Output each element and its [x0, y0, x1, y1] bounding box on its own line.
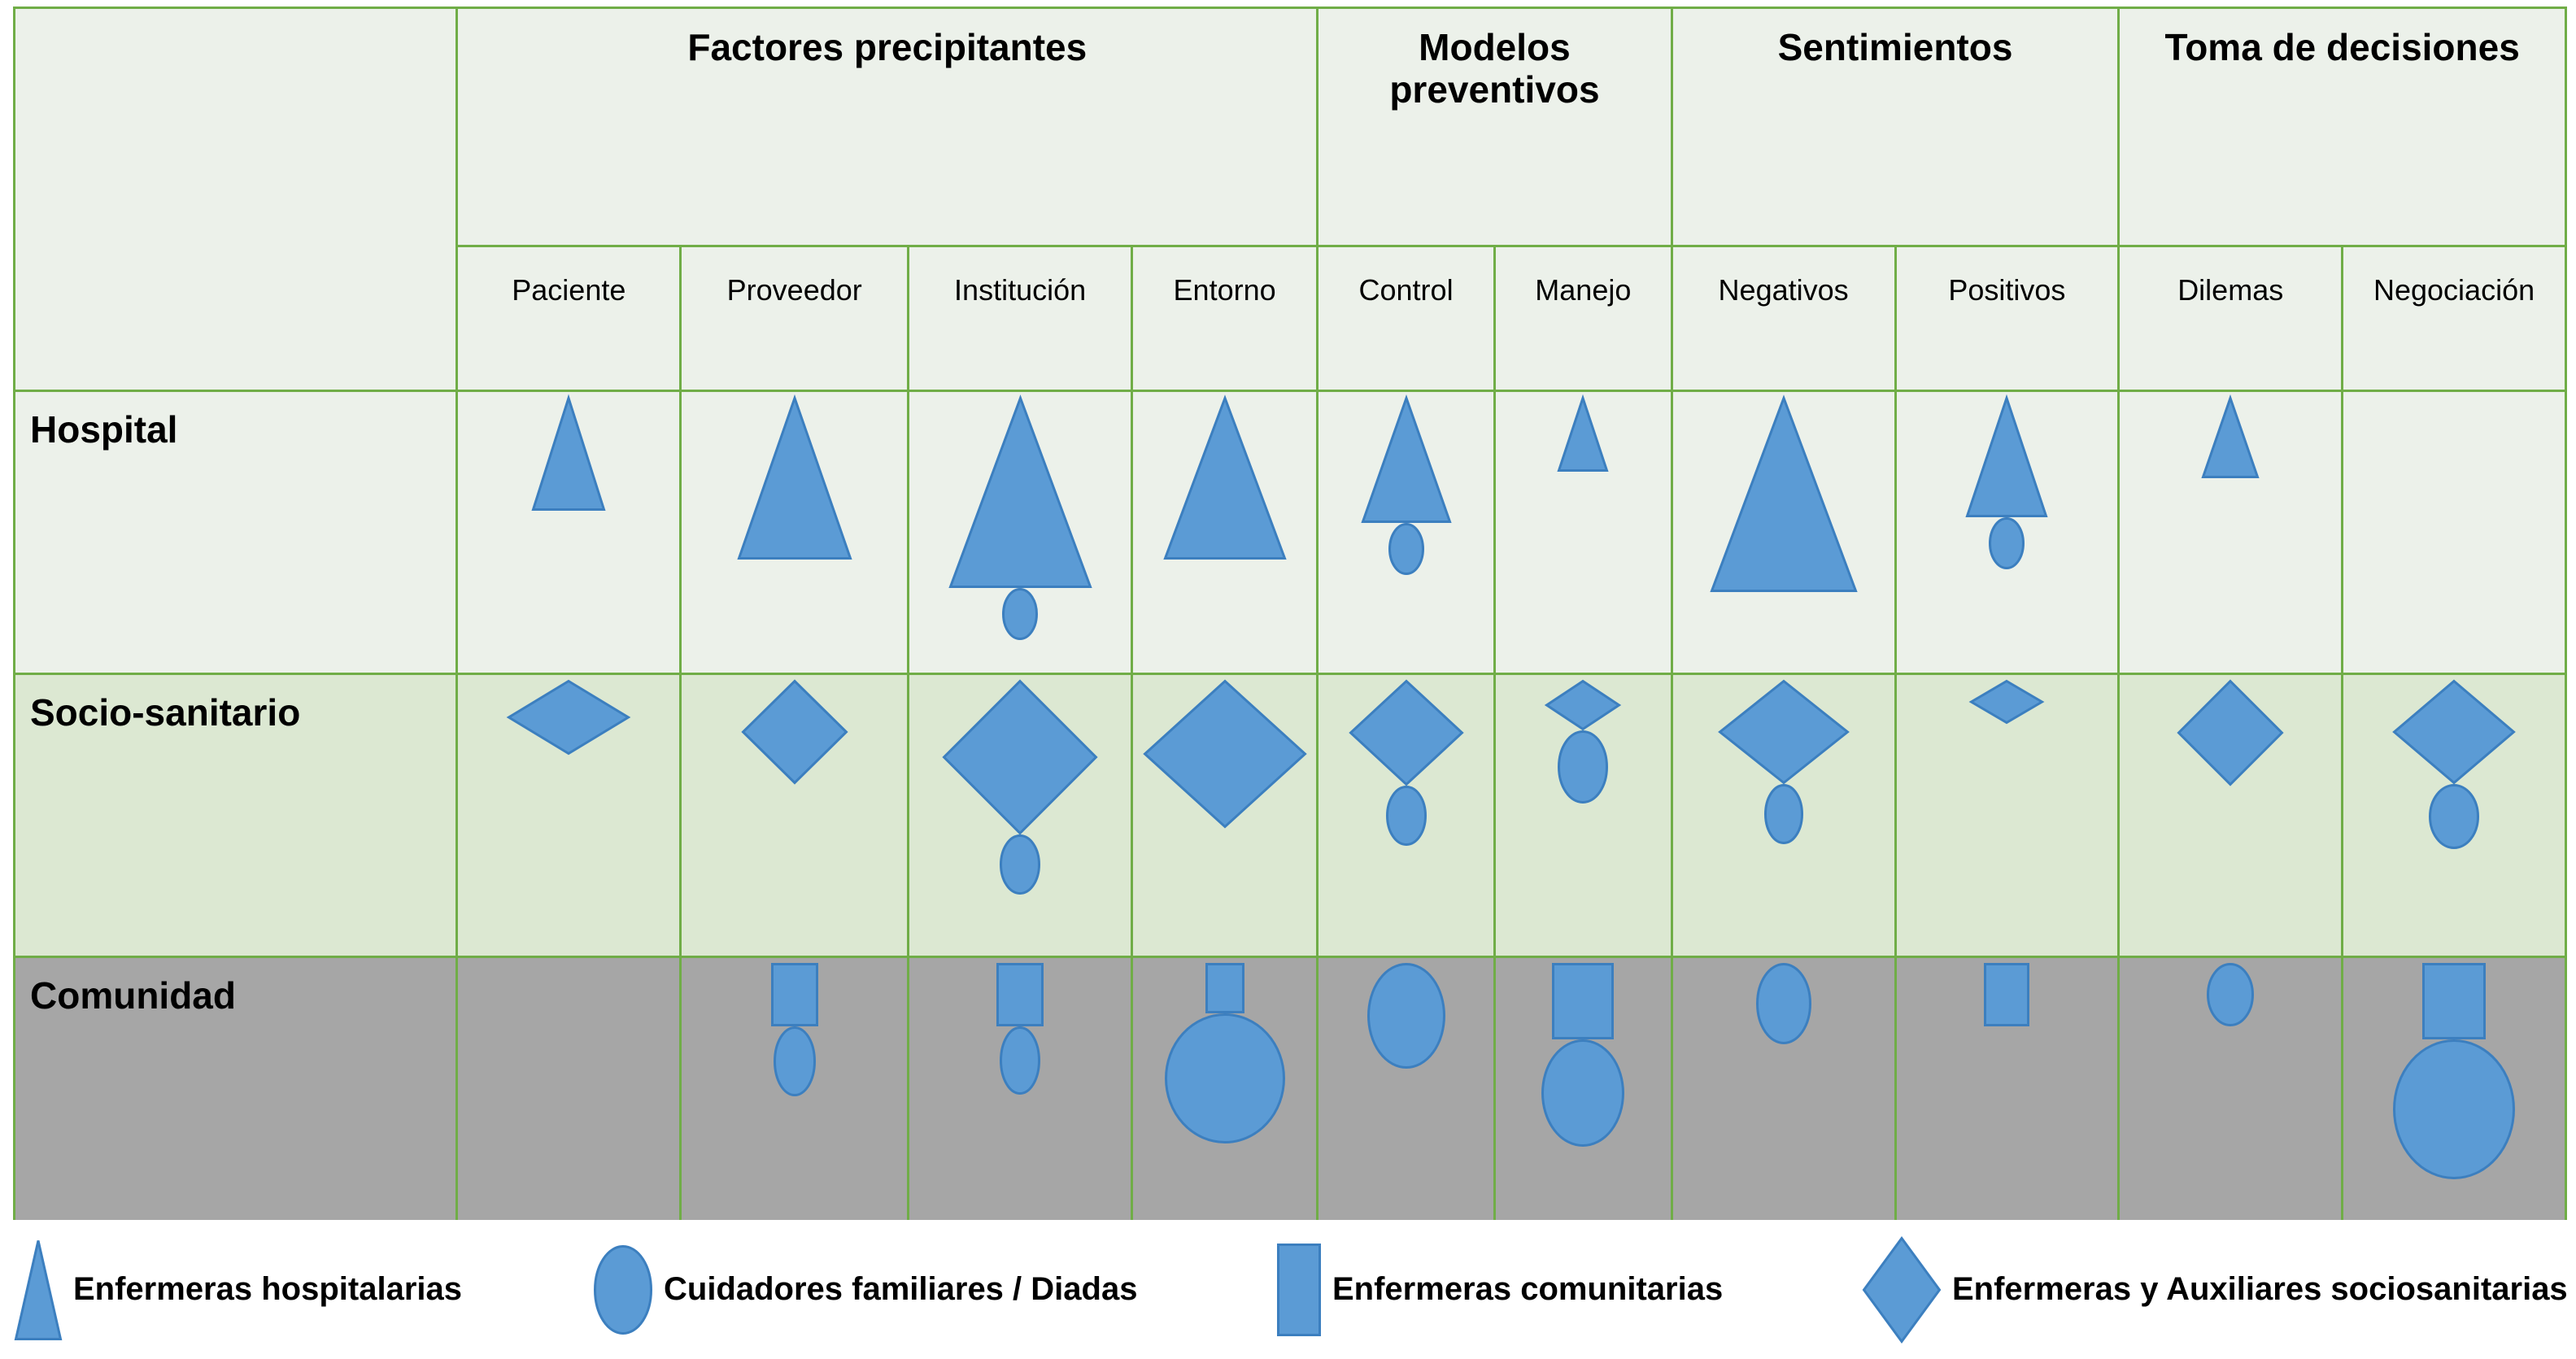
- diamond-glyph: [2393, 680, 2515, 784]
- matrix-cell-r1-c3: [1132, 674, 1318, 957]
- circle-glyph: [1541, 1039, 1624, 1147]
- matrix-cell-r1-c0: [457, 674, 681, 957]
- row-header-label: Socio-sanitario: [15, 675, 455, 734]
- row-header-label: Hospital: [15, 392, 455, 451]
- column-header-2: Institución: [909, 246, 1132, 391]
- matrix-cell-r0-c4: [1318, 391, 1495, 674]
- matrix-cell-r0-c2: [909, 391, 1132, 674]
- column-header-label: Institución: [909, 247, 1131, 307]
- group-header-label: Sentimientos: [1673, 9, 2118, 69]
- column-header-5: Manejo: [1494, 246, 1672, 391]
- matrix-cell-r2-c2: [909, 957, 1132, 1240]
- triangle-glyph: [15, 1239, 62, 1340]
- triangle-glyph: [1711, 397, 1857, 592]
- figure-root: Factores precipitantesModelos preventivo…: [0, 0, 2576, 1359]
- matrix-table: Factores precipitantesModelos preventivo…: [13, 7, 2567, 1241]
- matrix-cell-r0-c0: [457, 391, 681, 674]
- cell-shape-stack: [2343, 675, 2565, 956]
- table-corner-cell: [15, 8, 457, 391]
- row-header-2: Comunidad: [15, 957, 457, 1240]
- cell-shape-stack: [1133, 958, 1316, 1239]
- column-header-label: Manejo: [1496, 247, 1671, 307]
- cell-shape-stack: [1673, 675, 1894, 956]
- cell-shape-stack: [458, 958, 679, 1239]
- column-header-4: Control: [1318, 246, 1495, 391]
- cell-shape-stack: [2120, 392, 2341, 673]
- cell-shape-stack: [682, 675, 907, 956]
- cell-shape-stack: [2120, 675, 2341, 956]
- cell-shape-stack: [1897, 392, 2118, 673]
- group-header-1: Modelos preventivos: [1318, 8, 1672, 246]
- triangle-glyph: [738, 397, 852, 560]
- cell-shape-stack: [458, 392, 679, 673]
- diamond-glyph: [1863, 1237, 1941, 1343]
- circle-glyph: [1388, 523, 1424, 575]
- matrix-cell-r1-c9: [2343, 674, 2566, 957]
- row-header-0: Hospital: [15, 391, 457, 674]
- matrix-cell-r2-c6: [1672, 957, 1895, 1240]
- table-row: Hospital: [15, 391, 2566, 674]
- matrix-cell-r2-c4: [1318, 957, 1495, 1240]
- legend-item-1: Cuidadores familiares / Diadas: [594, 1220, 1137, 1359]
- matrix-cell-r0-c6: [1672, 391, 1895, 674]
- column-header-label: Proveedor: [682, 247, 907, 307]
- diamond-glyph: [1970, 680, 2043, 724]
- square-icon: [1277, 1244, 1321, 1336]
- matrix-cell-r0-c1: [681, 391, 909, 674]
- matrix-cell-r2-c8: [2119, 957, 2343, 1240]
- cell-shape-stack: [909, 958, 1131, 1239]
- circle-glyph: [1000, 1026, 1040, 1095]
- diamond-icon: [1863, 1237, 1941, 1343]
- matrix-cell-r2-c1: [681, 957, 909, 1240]
- group-header-label: Toma de decisiones: [2120, 9, 2565, 69]
- circle-glyph: [2429, 784, 2479, 849]
- matrix-cell-r1-c2: [909, 674, 1132, 957]
- group-header-label: Modelos preventivos: [1319, 9, 1671, 111]
- matrix-cell-r0-c3: [1132, 391, 1318, 674]
- cell-shape-stack: [1319, 675, 1493, 956]
- column-header-label: Negociación: [2343, 247, 2565, 307]
- column-header-label: Entorno: [1133, 247, 1316, 307]
- triangle-icon: [15, 1239, 62, 1340]
- legend-label: Enfermeras y Auxiliares sociosanitarias: [1952, 1271, 2568, 1308]
- cell-shape-stack: [458, 675, 679, 956]
- square-glyph: [1552, 963, 1614, 1039]
- diamond-glyph: [508, 680, 630, 755]
- column-header-7: Positivos: [1895, 246, 2119, 391]
- square-glyph: [1205, 963, 1244, 1013]
- group-header-2: Sentimientos: [1672, 8, 2119, 246]
- column-header-3: Entorno: [1132, 246, 1318, 391]
- cell-shape-stack: [1496, 958, 1671, 1239]
- circle-glyph: [1002, 588, 1038, 640]
- cell-shape-stack: [2120, 958, 2341, 1239]
- circle-glyph: [1989, 517, 2025, 569]
- square-glyph: [1277, 1244, 1321, 1336]
- matrix-cell-r2-c3: [1132, 957, 1318, 1240]
- circle-glyph: [1386, 786, 1427, 846]
- matrix-cell-r0-c7: [1895, 391, 2119, 674]
- square-glyph: [771, 963, 818, 1026]
- triangle-glyph: [949, 397, 1092, 588]
- group-header-label: Factores precipitantes: [458, 9, 1316, 69]
- circle-glyph: [2393, 1039, 2515, 1179]
- circle-glyph: [2207, 963, 2254, 1026]
- cell-shape-stack: [1673, 958, 1894, 1239]
- group-header-row: Factores precipitantesModelos preventivo…: [15, 8, 2566, 246]
- legend-label: Enfermeras hospitalarias: [73, 1271, 462, 1308]
- triangle-glyph: [532, 397, 605, 511]
- circle-glyph: [1000, 834, 1040, 895]
- column-header-label: Control: [1319, 247, 1493, 307]
- legend-label: Cuidadores familiares / Diadas: [664, 1271, 1137, 1308]
- cell-shape-stack: [1496, 392, 1671, 673]
- circle-glyph: [1764, 784, 1803, 844]
- column-header-6: Negativos: [1672, 246, 1895, 391]
- square-glyph: [996, 963, 1044, 1026]
- legend-item-3: Enfermeras y Auxiliares sociosanitarias: [1863, 1220, 2568, 1359]
- cell-shape-stack: [1133, 392, 1316, 673]
- circle-glyph: [1367, 963, 1445, 1069]
- diamond-glyph: [1349, 680, 1463, 786]
- legend-item-2: Enfermeras comunitarias: [1277, 1220, 1723, 1359]
- cell-shape-stack: [909, 675, 1131, 956]
- column-header-label: Dilemas: [2120, 247, 2341, 307]
- matrix-cell-r0-c9: [2343, 391, 2566, 674]
- cell-shape-stack: [2343, 958, 2565, 1239]
- legend-item-0: Enfermeras hospitalarias: [15, 1220, 462, 1359]
- square-glyph: [1984, 963, 2029, 1026]
- diamond-glyph: [1545, 680, 1620, 730]
- triangle-glyph: [1558, 397, 1608, 472]
- diamond-glyph: [2177, 680, 2283, 786]
- column-header-label: Paciente: [458, 247, 679, 307]
- circle-glyph: [774, 1026, 816, 1096]
- matrix-cell-r0-c5: [1494, 391, 1672, 674]
- triangle-glyph: [1164, 397, 1286, 560]
- diamond-glyph: [943, 680, 1097, 834]
- cell-shape-stack: [1673, 392, 1894, 673]
- matrix-cell-r1-c8: [2119, 674, 2343, 957]
- legend-label: Enfermeras comunitarias: [1332, 1271, 1723, 1308]
- matrix-cell-r2-c7: [1895, 957, 2119, 1240]
- cell-shape-stack: [1897, 675, 2118, 956]
- matrix-cell-r1-c6: [1672, 674, 1895, 957]
- table-row: Socio-sanitario: [15, 674, 2566, 957]
- column-header-1: Proveedor: [681, 246, 909, 391]
- group-header-0: Factores precipitantes: [457, 8, 1318, 246]
- cell-shape-stack: [1133, 675, 1316, 956]
- cell-shape-stack: [1897, 958, 2118, 1239]
- group-header-3: Toma de decisiones: [2119, 8, 2566, 246]
- diamond-glyph: [1144, 680, 1306, 828]
- matrix-cell-r2-c5: [1494, 957, 1672, 1240]
- table-row: Comunidad: [15, 957, 2566, 1240]
- diamond-glyph: [742, 680, 848, 784]
- matrix-cell-r1-c7: [1895, 674, 2119, 957]
- diamond-glyph: [1719, 680, 1849, 784]
- row-header-label: Comunidad: [15, 958, 455, 1017]
- triangle-glyph: [1362, 397, 1451, 523]
- matrix-cell-r0-c8: [2119, 391, 2343, 674]
- cell-shape-stack: [682, 958, 907, 1239]
- circle-glyph: [594, 1245, 652, 1335]
- circle-glyph: [1558, 730, 1608, 804]
- cell-shape-stack: [1319, 958, 1493, 1239]
- cell-shape-stack: [2343, 392, 2565, 673]
- triangle-glyph: [2202, 397, 2259, 478]
- matrix-cell-r2-c0: [457, 957, 681, 1240]
- cell-shape-stack: [682, 392, 907, 673]
- matrix-cell-r1-c1: [681, 674, 909, 957]
- table-head: Factores precipitantesModelos preventivo…: [15, 8, 2566, 391]
- matrix-cell-r2-c9: [2343, 957, 2566, 1240]
- column-header-label: Negativos: [1673, 247, 1894, 307]
- cell-shape-stack: [1496, 675, 1671, 956]
- matrix-cell-r1-c5: [1494, 674, 1672, 957]
- cell-shape-stack: [909, 392, 1131, 673]
- cell-shape-stack: [1319, 392, 1493, 673]
- square-glyph: [2422, 963, 2486, 1039]
- triangle-glyph: [1966, 397, 2047, 517]
- circle-icon: [594, 1245, 652, 1335]
- matrix-cell-r1-c4: [1318, 674, 1495, 957]
- circle-glyph: [1756, 963, 1811, 1044]
- column-header-label: Positivos: [1897, 247, 2118, 307]
- circle-glyph: [1165, 1013, 1285, 1143]
- column-header-9: Negociación: [2343, 246, 2566, 391]
- column-header-0: Paciente: [457, 246, 681, 391]
- table-body: HospitalSocio-sanitarioComunidad: [15, 391, 2566, 1240]
- legend: Enfermeras hospitalariasCuidadores famil…: [0, 1220, 2576, 1359]
- column-header-8: Dilemas: [2119, 246, 2343, 391]
- row-header-1: Socio-sanitario: [15, 674, 457, 957]
